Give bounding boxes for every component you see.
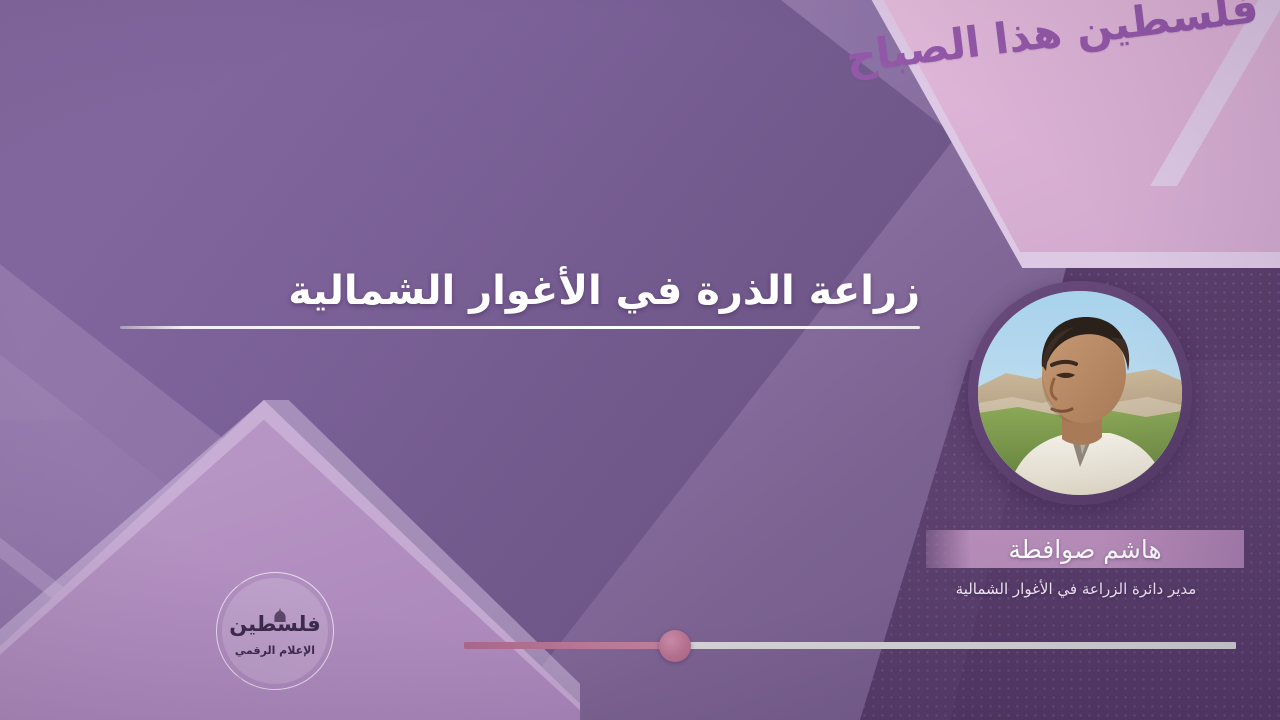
watermark-title: فلسطين — [216, 612, 334, 636]
guest-name: هاشم صوافطة — [1008, 535, 1161, 564]
guest-name-bar: هاشم صوافطة — [926, 530, 1244, 568]
headline-block: زراعة الذرة في الأغوار الشمالية — [180, 266, 920, 329]
channel-watermark: فلسطين الإعلام الرقمي — [216, 572, 334, 690]
avatar — [978, 291, 1182, 495]
headline-underline — [120, 326, 920, 329]
guest-title: مدير دائرة الزراعة في الأغوار الشمالية — [896, 580, 1256, 598]
person-photo-icon — [978, 291, 1182, 495]
headline-text: زراعة الذرة في الأغوار الشمالية — [180, 266, 920, 316]
broadcast-lower-third-frame: فلسطين هذا الصباح زراعة الذرة في الأغوار… — [0, 0, 1280, 720]
watermark-subtitle: الإعلام الرقمي — [216, 644, 334, 657]
progress-knob[interactable] — [659, 630, 691, 662]
progress-fill — [464, 642, 675, 649]
